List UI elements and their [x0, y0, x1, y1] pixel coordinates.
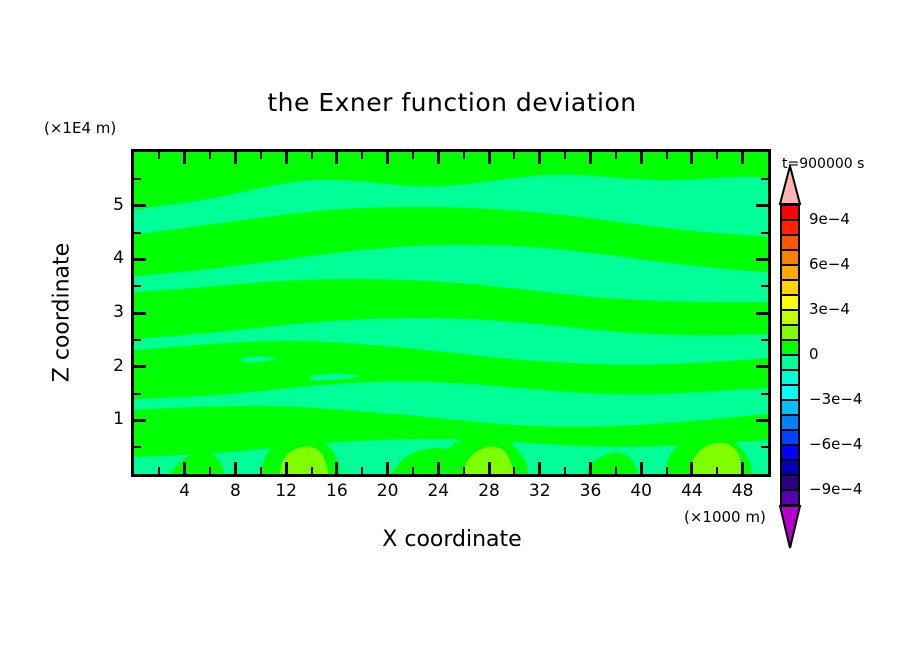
x-axis-major-tick	[386, 152, 389, 164]
x-axis-tick-label: 32	[518, 481, 562, 501]
x-axis-minor-tick	[716, 152, 718, 159]
x-axis-major-tick	[690, 462, 693, 474]
x-axis-tick-label: 24	[416, 481, 460, 501]
contour-plot-area	[134, 152, 768, 474]
colorbar-segment[interactable]	[780, 235, 800, 250]
x-axis-minor-tick	[412, 152, 414, 159]
y-axis-title: Z coordinate	[50, 233, 75, 393]
colorbar-tick-label: −6e−4	[809, 435, 862, 453]
y-axis-minor-tick	[134, 446, 141, 448]
colorbar-segment[interactable]	[780, 460, 800, 475]
x-axis-major-tick	[589, 152, 592, 164]
x-axis-minor-tick	[615, 152, 617, 159]
y-axis-major-tick	[134, 258, 146, 261]
y-axis-tick-label: 1	[96, 409, 124, 429]
x-axis-unit-label: (×1000 m)	[684, 508, 766, 526]
y-axis-tick-label: 4	[96, 248, 124, 268]
x-axis-major-tick	[437, 152, 440, 164]
x-axis-minor-tick	[463, 467, 465, 474]
y-axis-minor-tick	[134, 339, 141, 341]
colorbar-segment[interactable]	[780, 370, 800, 385]
x-axis-tick-label: 16	[315, 481, 359, 501]
x-axis-major-tick	[285, 152, 288, 164]
y-axis-tick-label: 3	[96, 302, 124, 322]
colorbar-tick-label: 0	[809, 345, 819, 363]
colorbar-segment[interactable]	[780, 355, 800, 370]
colorbar-segment[interactable]	[780, 490, 800, 505]
colorbar-segment[interactable]	[780, 445, 800, 460]
x-axis-minor-tick	[666, 467, 668, 474]
x-axis-tick-label: 44	[670, 481, 714, 501]
colorbar-tick-label: −3e−4	[809, 390, 862, 408]
x-axis-major-tick	[488, 462, 491, 474]
colorbar-segment[interactable]	[780, 250, 800, 265]
y-axis-minor-tick	[134, 178, 141, 180]
colorbar-segment[interactable]	[780, 295, 800, 310]
x-axis-major-tick	[538, 152, 541, 164]
x-axis-major-tick	[640, 462, 643, 474]
y-axis-minor-tick	[761, 339, 768, 341]
x-axis-title: X coordinate	[0, 527, 904, 552]
colorbar-segment[interactable]	[780, 430, 800, 445]
x-axis-minor-tick	[463, 152, 465, 159]
x-axis-major-tick	[285, 462, 288, 474]
y-axis-unit-label: (×1E4 m)	[44, 119, 116, 137]
x-axis-major-tick	[690, 152, 693, 164]
time-stamp-label: t=900000 s	[782, 156, 864, 172]
x-axis-tick-label: 20	[366, 481, 410, 501]
contour-field	[134, 152, 768, 474]
x-axis-minor-tick	[564, 467, 566, 474]
x-axis-major-tick	[488, 152, 491, 164]
colorbar-segment[interactable]	[780, 475, 800, 490]
colorbar-tick-label: −9e−4	[809, 480, 862, 498]
y-axis-minor-tick	[761, 178, 768, 180]
x-axis-minor-tick	[412, 467, 414, 474]
x-axis-minor-tick	[615, 467, 617, 474]
x-axis-tick-label: 12	[264, 481, 308, 501]
colorbar-tick-label: 6e−4	[809, 255, 850, 273]
page-title: the Exner function deviation	[0, 88, 904, 117]
x-axis-minor-tick	[209, 467, 211, 474]
y-axis-major-tick	[134, 312, 146, 315]
x-axis-minor-tick	[260, 152, 262, 159]
y-axis-minor-tick	[761, 393, 768, 395]
x-axis-major-tick	[741, 462, 744, 474]
x-axis-minor-tick	[158, 467, 160, 474]
x-axis-tick-label: 8	[213, 481, 257, 501]
x-axis-minor-tick	[666, 152, 668, 159]
x-axis-minor-tick	[564, 152, 566, 159]
y-axis-major-tick	[756, 312, 768, 315]
x-axis-major-tick	[538, 462, 541, 474]
x-axis-tick-label: 36	[568, 481, 612, 501]
colorbar-segment[interactable]	[780, 415, 800, 430]
x-axis-major-tick	[234, 462, 237, 474]
x-axis-major-tick	[183, 152, 186, 164]
x-axis-tick-label: 48	[721, 481, 765, 501]
y-axis-major-tick	[756, 365, 768, 368]
y-axis-major-tick	[756, 258, 768, 261]
colorbar-segment[interactable]	[780, 280, 800, 295]
y-axis-minor-tick	[134, 285, 141, 287]
x-axis-minor-tick	[361, 152, 363, 159]
x-axis-minor-tick	[311, 152, 313, 159]
x-axis-minor-tick	[513, 152, 515, 159]
colorbar-segment[interactable]	[780, 205, 800, 220]
x-axis-minor-tick	[260, 467, 262, 474]
chart-canvas: the Exner function deviation (×1E4 m) (×…	[0, 0, 904, 654]
y-axis-minor-tick	[134, 232, 141, 234]
x-axis-major-tick	[741, 152, 744, 164]
y-axis-major-tick	[134, 204, 146, 207]
colorbar-segment[interactable]	[780, 400, 800, 415]
colorbar[interactable]: 9e−46e−43e−40−3e−4−6e−4−9e−4	[777, 205, 803, 505]
y-axis-minor-tick	[761, 232, 768, 234]
x-axis-tick-label: 28	[467, 481, 511, 501]
x-axis-minor-tick	[158, 152, 160, 159]
x-axis-minor-tick	[311, 467, 313, 474]
x-axis-minor-tick	[513, 467, 515, 474]
x-axis-minor-tick	[716, 467, 718, 474]
colorbar-tick-label: 9e−4	[809, 210, 850, 228]
x-axis-minor-tick	[209, 152, 211, 159]
colorbar-segment[interactable]	[780, 325, 800, 340]
x-axis-major-tick	[183, 462, 186, 474]
y-axis-tick-label: 5	[96, 195, 124, 215]
colorbar-segment[interactable]	[780, 385, 800, 400]
y-axis-tick-label: 2	[96, 356, 124, 376]
y-axis-major-tick	[134, 365, 146, 368]
x-axis-tick-label: 4	[163, 481, 207, 501]
y-axis-major-tick	[756, 204, 768, 207]
y-axis-minor-tick	[761, 285, 768, 287]
x-axis-major-tick	[335, 462, 338, 474]
colorbar-under-arrow-icon	[777, 505, 803, 549]
colorbar-tick-label: 3e−4	[809, 300, 850, 318]
x-axis-major-tick	[589, 462, 592, 474]
y-axis-major-tick	[756, 419, 768, 422]
x-axis-major-tick	[335, 152, 338, 164]
colorbar-segment[interactable]	[780, 220, 800, 235]
y-axis-minor-tick	[761, 446, 768, 448]
x-axis-major-tick	[234, 152, 237, 164]
y-axis-major-tick	[134, 419, 146, 422]
x-axis-major-tick	[640, 152, 643, 164]
colorbar-segment[interactable]	[780, 265, 800, 280]
x-axis-major-tick	[437, 462, 440, 474]
colorbar-segment[interactable]	[780, 340, 800, 355]
x-axis-minor-tick	[361, 467, 363, 474]
x-axis-major-tick	[386, 462, 389, 474]
y-axis-minor-tick	[134, 393, 141, 395]
x-axis-tick-label: 40	[619, 481, 663, 501]
colorbar-segment[interactable]	[780, 310, 800, 325]
